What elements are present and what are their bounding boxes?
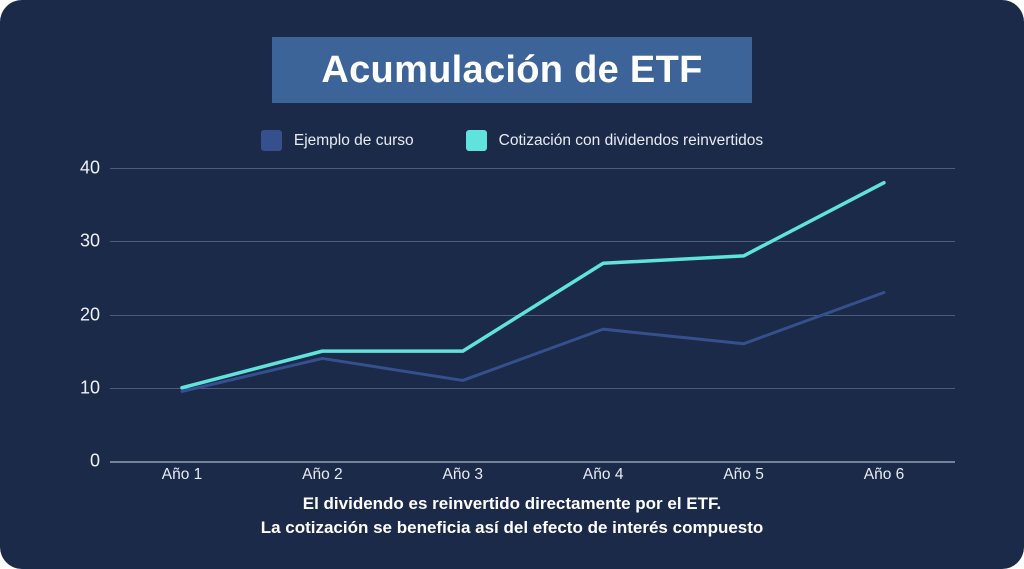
y-tick-label-10: 10 — [58, 377, 100, 398]
x-tick-label-3: Año 3 — [443, 466, 484, 484]
x-tick-label-5: Año 5 — [723, 466, 764, 484]
legend-item-ejemplo-de-curso: Ejemplo de curso — [261, 130, 414, 151]
y-tick-label-20: 20 — [58, 304, 100, 325]
x-tick-label-2: Año 2 — [302, 466, 343, 484]
legend-label: Cotización con dividendos reinvertidos — [499, 132, 764, 150]
y-tick-label-40: 40 — [58, 158, 100, 179]
series-line-2 — [182, 183, 884, 388]
x-tick-label-6: Año 6 — [864, 466, 905, 484]
x-tick-label-4: Año 4 — [583, 466, 624, 484]
chart-caption: El dividendo es reinvertido directamente… — [0, 492, 1024, 540]
legend-item-cotizacion-reinvertidos: Cotización con dividendos reinvertidos — [466, 130, 764, 151]
caption-line-1: El dividendo es reinvertido directamente… — [0, 492, 1024, 516]
title-banner: Acumulación de ETF — [272, 37, 752, 103]
x-tick-label-1: Año 1 — [162, 466, 203, 484]
legend-swatch-icon — [466, 130, 487, 151]
legend-swatch-icon — [261, 130, 282, 151]
chart-card: Acumulación de ETF Ejemplo de curso Coti… — [0, 0, 1024, 569]
page-title: Acumulación de ETF — [321, 49, 702, 92]
caption-line-2: La cotización se beneficia así del efect… — [0, 516, 1024, 540]
chart-legend: Ejemplo de curso Cotización con dividend… — [0, 130, 1024, 151]
chart-series-svg — [110, 168, 955, 461]
legend-label: Ejemplo de curso — [294, 132, 414, 150]
y-tick-label-30: 30 — [58, 231, 100, 252]
gridline-0 — [110, 461, 955, 463]
y-tick-label-0: 0 — [58, 451, 100, 472]
x-axis: Año 1Año 2Año 3Año 4Año 5Año 6 — [110, 466, 955, 490]
